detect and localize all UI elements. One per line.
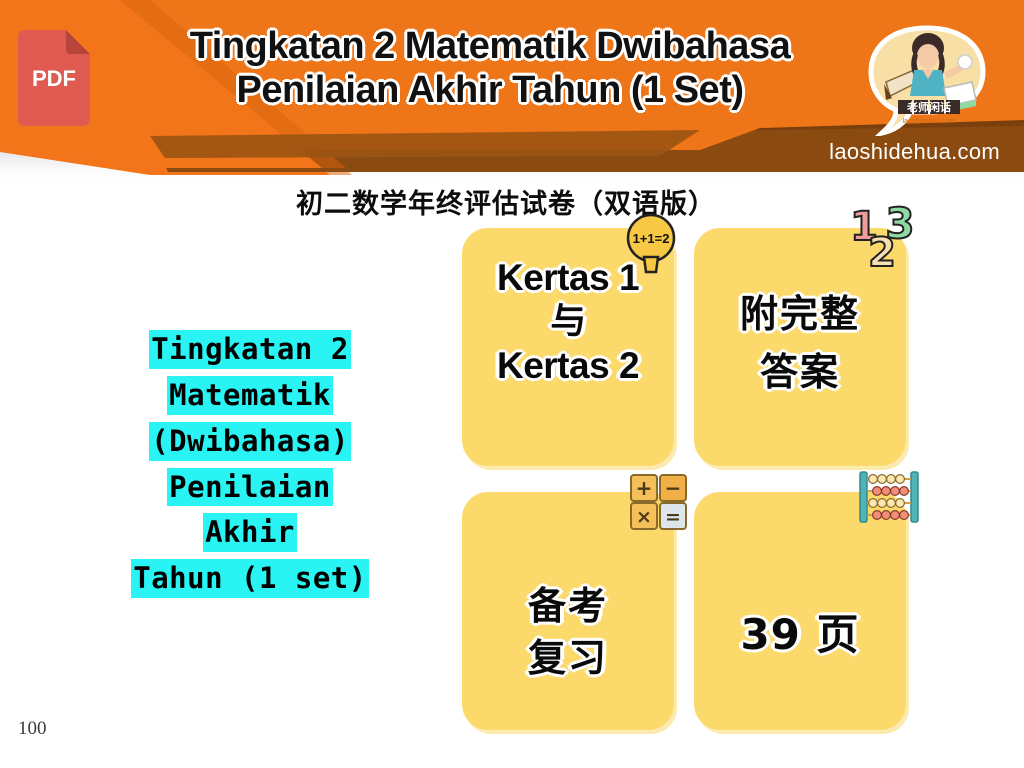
feature-card-revision[interactable]: + − × = 备考 复习 [462,492,674,730]
header-banner: PDF Tingkatan 2 Matematik Dwibahasa Peni… [0,0,1024,185]
feature-card-text: 附完整 答案 [694,286,906,402]
math-operator-plus: + [636,476,653,500]
numbers-123-icon: 1 2 3 [848,204,918,276]
feature-card-answers[interactable]: 1 2 3 附完整 答案 [694,228,906,466]
highlight-line: Akhir [90,513,410,552]
highlight-line-text: (Dwibahasa) [149,422,351,461]
website-label: laoshidehua.com [829,139,1000,165]
poster-canvas: PDF Tingkatan 2 Matematik Dwibahasa Peni… [0,0,1024,768]
logo-brand-url: laoshidehua.com [903,118,956,125]
idea-balloon-label: 1+1=2 [633,231,670,246]
logo-brand-blocks: 老师闲话 [898,100,960,114]
highlight-line: Tahun (1 set) [90,559,410,598]
feature-card-line-1: 附完整 [694,286,906,344]
highlight-line: Matematik [90,376,410,415]
banner-title: Tingkatan 2 Matematik Dwibahasa Penilaia… [120,24,860,113]
feature-card-line-3: Kertas 2 [462,344,674,388]
highlight-line-text: Matematik [167,376,333,415]
banner-title-line-1: Tingkatan 2 Matematik Dwibahasa [120,24,860,68]
feature-card-text: 39 页 [694,610,906,660]
feature-card-papers[interactable]: 1+1=2 Kertas 1 与 Kertas 2 [462,228,674,466]
highlight-line-text: Tingkatan 2 [149,330,351,369]
feature-card-line-2: 与 [462,300,674,343]
math-operator-equals: = [665,506,681,528]
brand-logo-icon[interactable]: 老师闲话 laoshidehua.com [866,24,988,136]
highlight-line: Tingkatan 2 [90,330,410,369]
feature-card-text: 备考 复习 [462,580,674,685]
abacus-icon [858,470,920,524]
feature-card-text: Kertas 1 与 Kertas 2 [462,256,674,388]
math-operator-minus: − [665,476,682,500]
feature-card-line-1: 39 页 [694,610,906,660]
pdf-badge-label: PDF [32,66,76,91]
feature-card-line-1: 备考 [462,580,674,632]
numbers-123-digit-3: 3 [885,204,914,248]
feature-card-line-2: 答案 [694,344,906,402]
highlight-line-text: Akhir [203,513,297,552]
page-number: 100 [18,718,47,740]
feature-card-grid: 1+1=2 Kertas 1 与 Kertas 2 1 2 3 附完整 答案 [462,228,922,736]
banner-title-line-2: Penilaian Akhir Tahun (1 Set) [120,68,860,112]
highlight-line-text: Penilaian [167,468,333,507]
math-operators-icon: + − × = [630,474,688,530]
highlight-line-text: Tahun (1 set) [131,559,368,598]
feature-card-line-1: Kertas 1 [462,256,674,300]
feature-card-pages[interactable]: 39 页 [694,492,906,730]
logo-brand-cn: 老师闲话 [906,100,951,114]
pdf-file-icon: PDF [18,30,90,126]
feature-card-line-2: 复习 [462,632,674,684]
math-operator-times: × [636,506,652,528]
highlighted-title-block: Tingkatan 2 Matematik (Dwibahasa) Penila… [90,330,410,605]
highlight-line: Penilaian [90,468,410,507]
highlight-line: (Dwibahasa) [90,422,410,461]
